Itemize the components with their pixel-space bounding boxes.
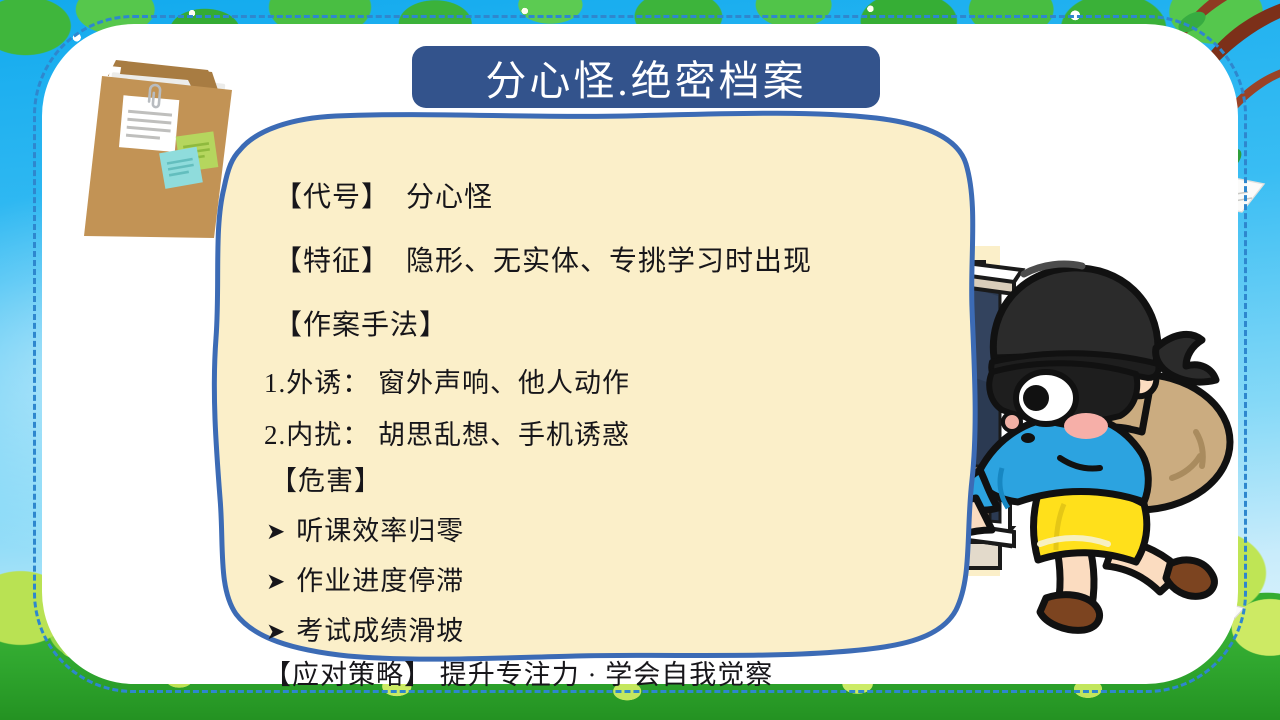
slide-title-pill: 分心怪.绝密档案 — [412, 46, 880, 108]
line-harm-2: ➤作业进度停滞 — [266, 568, 464, 595]
line-harm-heading: 【危害】 — [270, 468, 382, 495]
line-method-heading: 【作案手法】 — [274, 312, 448, 340]
line-harm-1: ➤听课效率归零 — [266, 518, 464, 545]
bullet-arrow-icon: ➤ — [266, 519, 296, 544]
line-feature: 【特征】 隐形、无实体、专挑学习时出现 — [274, 248, 812, 276]
slide-canvas: 【代号】 分心怪 【特征】 隐形、无实体、专挑学习时出现 【作案手法】 1.外诱… — [0, 0, 1280, 720]
case-file-panel: 【代号】 分心怪 【特征】 隐形、无实体、专挑学习时出现 【作案手法】 1.外诱… — [196, 108, 986, 678]
bullet-arrow-icon: ➤ — [266, 619, 296, 644]
slide-title-text: 分心怪.绝密档案 — [485, 47, 806, 107]
line-method-1: 1.外诱： 窗外声响、他人动作 — [264, 370, 630, 397]
line-code: 【代号】 分心怪 — [274, 184, 493, 212]
line-harm-3: ➤考试成绩滑坡 — [266, 618, 464, 645]
bullet-arrow-icon: ➤ — [266, 569, 296, 594]
line-strategy: 【应对策略】 提升专注力 · 学会自我觉察 — [264, 662, 773, 689]
line-method-2: 2.内扰： 胡思乱想、手机诱惑 — [264, 422, 630, 449]
